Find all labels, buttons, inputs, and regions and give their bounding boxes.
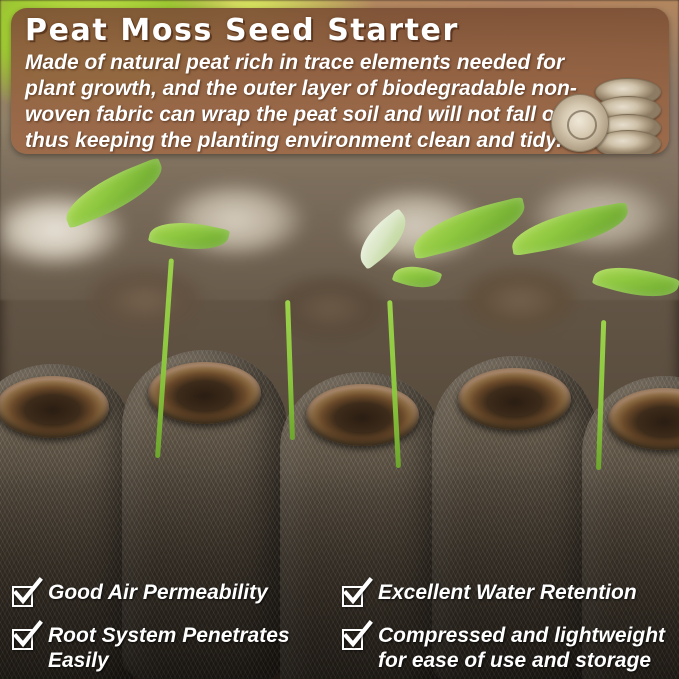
feature-list: Good Air Permeability Excellent Water Re… [0,580,679,673]
product-infographic: Peat Moss Seed Starter Made of natural p… [0,0,679,679]
feature-label: Compressed and lightweight for ease of u… [378,623,679,673]
checkbox-checked-icon [12,627,37,652]
feature-item: Compressed and lightweight for ease of u… [342,623,679,673]
checkbox-checked-icon [12,584,37,609]
feature-item: Good Air Permeability [12,580,342,609]
feature-item: Root System Penetrates Easily [12,623,342,673]
feature-label: Excellent Water Retention [378,580,637,605]
product-description: Made of natural peat rich in trace eleme… [25,50,585,154]
checkbox-checked-icon [342,627,367,652]
peat-disc-stack-icon [551,80,663,154]
feature-label: Root System Penetrates Easily [48,623,342,673]
header-banner: Peat Moss Seed Starter Made of natural p… [11,8,669,154]
feature-label: Good Air Permeability [48,580,268,605]
page-title: Peat Moss Seed Starter [25,14,653,48]
feature-item: Excellent Water Retention [342,580,679,609]
peat-disc-upright [551,94,609,152]
checkbox-checked-icon [342,584,367,609]
